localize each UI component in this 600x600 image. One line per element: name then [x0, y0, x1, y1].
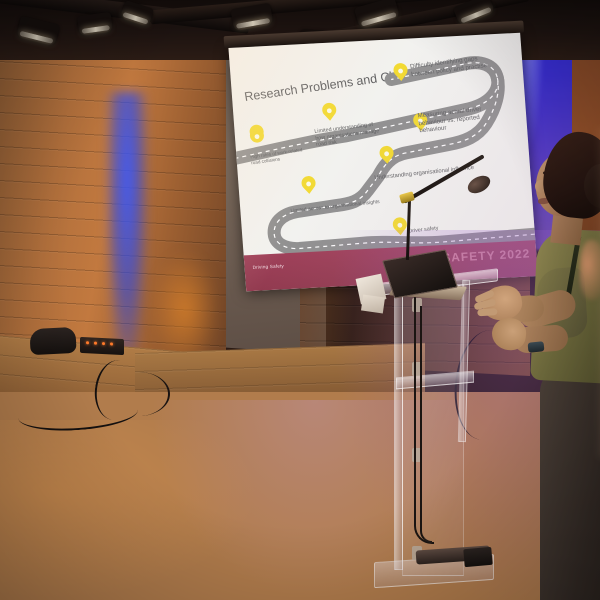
printed-notes [361, 295, 385, 314]
lectern-post-left [394, 282, 403, 570]
floor-cable [108, 372, 170, 416]
laptop [388, 254, 466, 296]
map-pin-icon [301, 176, 316, 195]
map-pin-icon [322, 103, 337, 122]
projection-screen: Research Problems and Challenges: [228, 27, 538, 292]
stage-lamp-icon [120, 0, 154, 27]
lectern [368, 276, 498, 586]
power-adapter [463, 547, 492, 567]
lectern-cable [420, 306, 432, 543]
stage-lamp-icon [16, 15, 60, 46]
slide-footer-logo: Driving Safety [252, 263, 284, 270]
slide-surface: Research Problems and Challenges: [228, 33, 538, 292]
stage-lighting-bar [80, 337, 124, 355]
speaker-wristwatch [528, 341, 545, 353]
speaker-person [496, 118, 600, 600]
speaker-trousers [540, 366, 600, 600]
foreground-hand [580, 240, 600, 300]
stage-lamp-icon [77, 12, 113, 37]
presentation-photo-scene: Research Problems and Challenges: [0, 0, 600, 600]
map-pin-icon [392, 217, 407, 236]
map-pin-icon [249, 124, 264, 143]
black-bag [29, 327, 76, 355]
